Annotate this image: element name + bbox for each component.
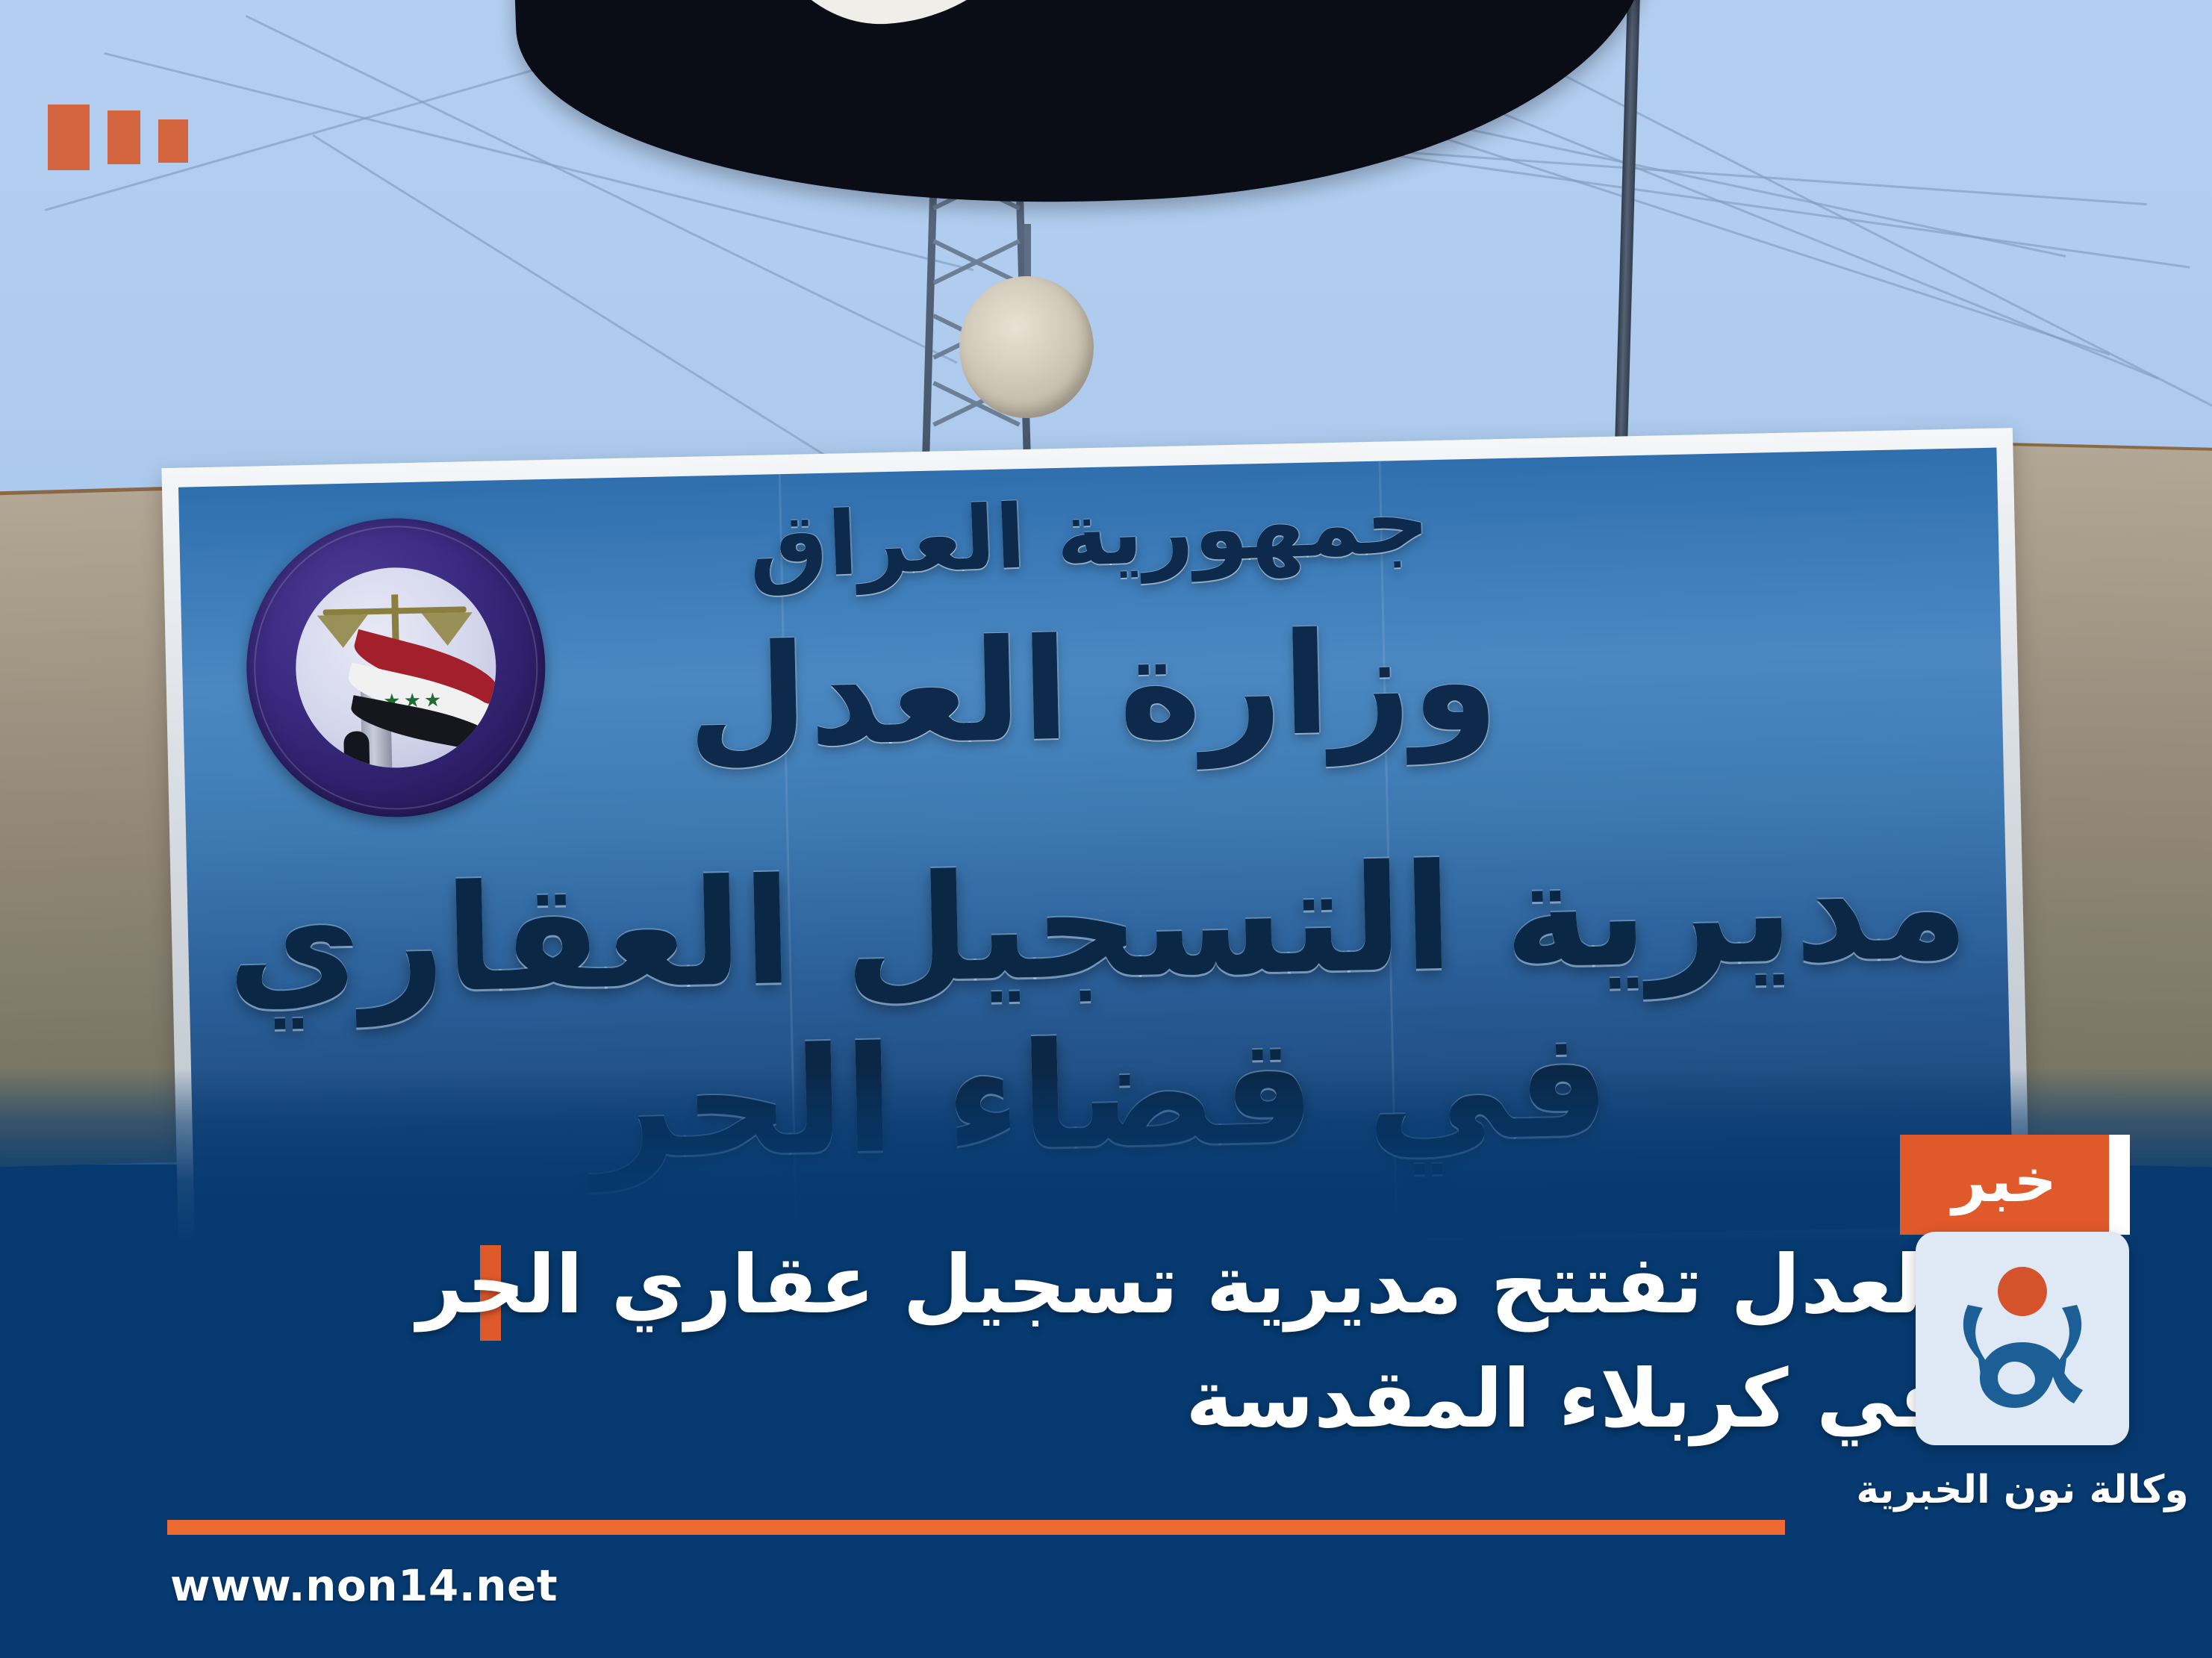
news-badge-label: خبر [1900,1135,2109,1235]
agency-logo-block: وكالة نون الخبرية [1910,1232,2134,1512]
noon-logo-icon [1937,1253,2108,1424]
news-card: ★★★ جمهورية العراق وزارة العدل مديرية ال… [0,0,2212,1658]
bar-3 [158,119,188,163]
bar-1 [48,105,90,170]
wall-left [0,490,179,1168]
site-url: www.non14.net [170,1560,558,1611]
headline: العدل تفتتح مديرية تسجيل عقاري الحر في ك… [398,1228,1951,1457]
footer-divider [167,1520,1785,1535]
noon-agency-logo [1916,1232,2129,1445]
satellite-dish [959,276,1094,418]
bar-2 [108,110,140,164]
news-badge: خبر [1900,1135,2130,1235]
three-bars-mark-icon [48,105,188,170]
agency-name: وكالة نون الخبرية [1856,1468,2188,1512]
news-badge-tick [2109,1135,2130,1235]
